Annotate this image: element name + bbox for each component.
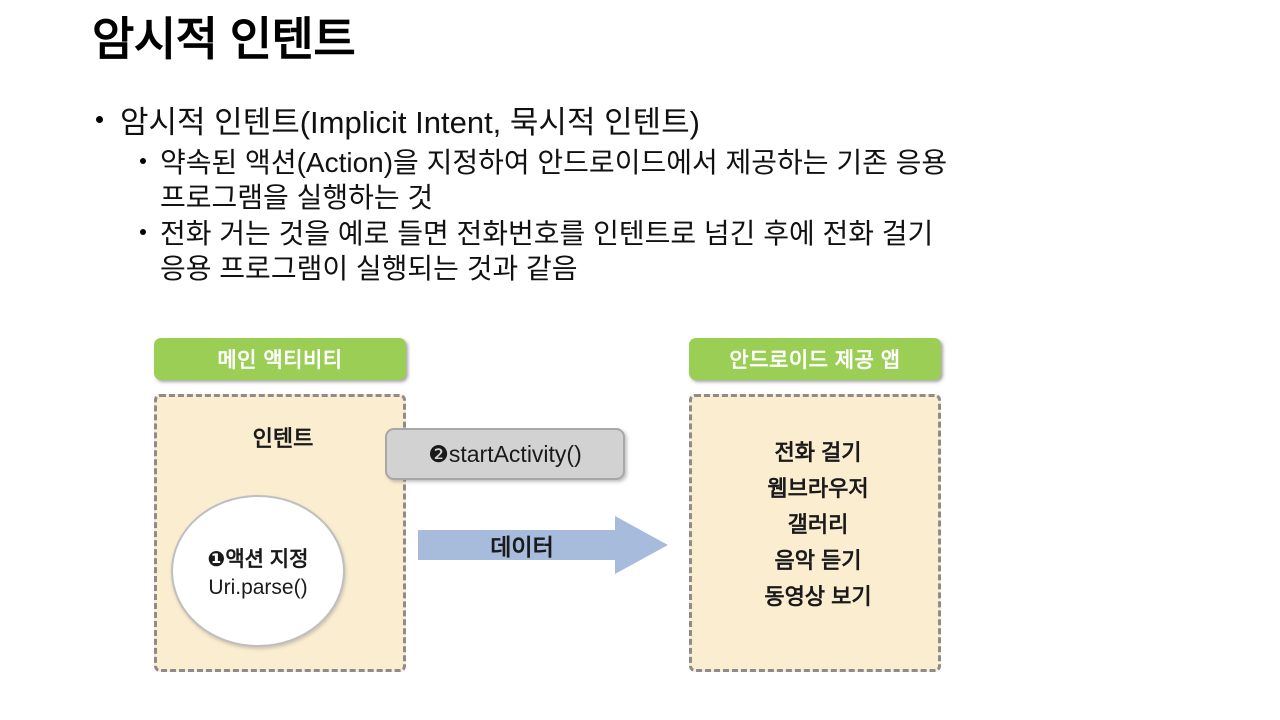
- bullet-dot-icon: [140, 229, 146, 235]
- bullet-dot-icon: [140, 158, 146, 164]
- page-title: 암시적 인텐트: [92, 14, 355, 65]
- bullet-list: 암시적 인텐트(Implicit Intent, 묵시적 인텐트) 약속된 액션…: [92, 103, 1202, 288]
- diagram-panel-provided-apps: 전화 걸기 웹브라우저 갤러리 음악 듣기 동영상 보기: [689, 394, 941, 672]
- implicit-intent-diagram: 메인 액티비티 안드로이드 제공 앱 인텐트 ❶액션 지정 Uri.parse(…: [140, 336, 970, 696]
- bullet-level2-line: 프로그램을 실행하는 것: [160, 180, 1202, 215]
- list-item: 동영상 보기: [692, 579, 944, 615]
- data-arrow-label: 데이터: [418, 516, 626, 574]
- diagram-header-android-apps: 안드로이드 제공 앱: [689, 338, 941, 380]
- provided-apps-list: 전화 걸기 웹브라우저 갤러리 음악 듣기 동영상 보기: [692, 435, 944, 615]
- list-item: 웹브라우저: [692, 471, 944, 507]
- list-item: 전화 걸기: [692, 435, 944, 471]
- list-item: 갤러리: [692, 507, 944, 543]
- intent-panel-label: 인텐트: [157, 421, 409, 453]
- action-ellipse: ❶액션 지정 Uri.parse(): [171, 495, 345, 647]
- bullet-dot-icon: [96, 116, 103, 123]
- bullet-level1: 암시적 인텐트(Implicit Intent, 묵시적 인텐트): [92, 103, 1202, 143]
- diagram-header-main-activity: 메인 액티비티: [154, 338, 406, 380]
- action-ellipse-line2: Uri.parse(): [208, 576, 307, 600]
- action-ellipse-line1: ❶액션 지정: [208, 543, 309, 573]
- bullet-level2-line: 약속된 액션(Action)을 지정하여 안드로이드에서 제공하는 기존 응용: [160, 145, 1202, 180]
- list-item: 음악 듣기: [692, 543, 944, 579]
- diagram-panel-intent: 인텐트 ❶액션 지정 Uri.parse(): [154, 394, 406, 672]
- bullet-level2-item: 약속된 액션(Action)을 지정하여 안드로이드에서 제공하는 기존 응용 …: [136, 145, 1202, 216]
- data-flow-arrow: 데이터: [418, 516, 668, 574]
- bullet-level2-item: 전화 거는 것을 예로 들면 전화번호를 인텐트로 넘긴 후에 전화 걸기 응용…: [136, 216, 1202, 287]
- bullet-level2-line: 응용 프로그램이 실행되는 것과 같음: [160, 251, 1202, 286]
- bullet-level1-text: 암시적 인텐트(Implicit Intent, 묵시적 인텐트): [120, 105, 700, 140]
- bullet-level2-line: 전화 거는 것을 예로 들면 전화번호를 인텐트로 넘긴 후에 전화 걸기: [160, 216, 1202, 251]
- start-activity-call-box: ❷startActivity(): [385, 428, 625, 480]
